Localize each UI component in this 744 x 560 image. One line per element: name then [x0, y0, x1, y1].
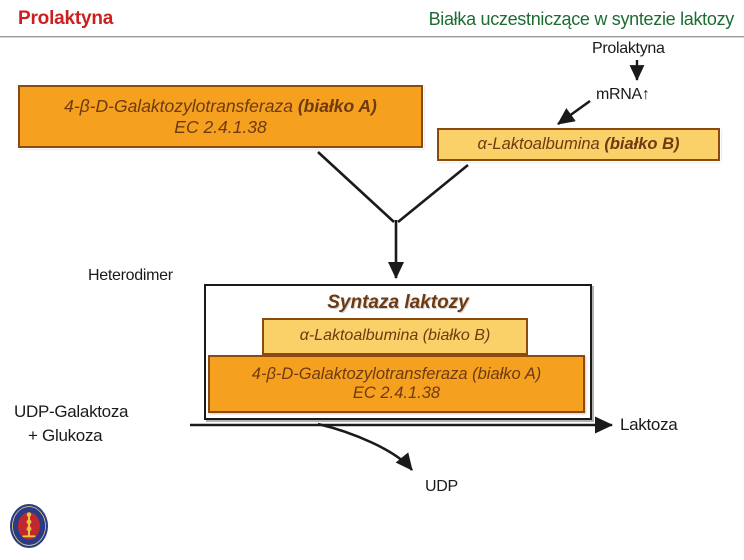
- slide-canvas: Prolaktyna Białka uczestniczące w syntez…: [0, 0, 744, 560]
- arrow-layer: [0, 0, 744, 560]
- arrow-diagonal-down-left-icon: [558, 101, 590, 124]
- university-seal-icon: [6, 500, 52, 552]
- arrow-curved-down-icon: [318, 424, 412, 470]
- arrow-merge-down-icon: [318, 152, 468, 278]
